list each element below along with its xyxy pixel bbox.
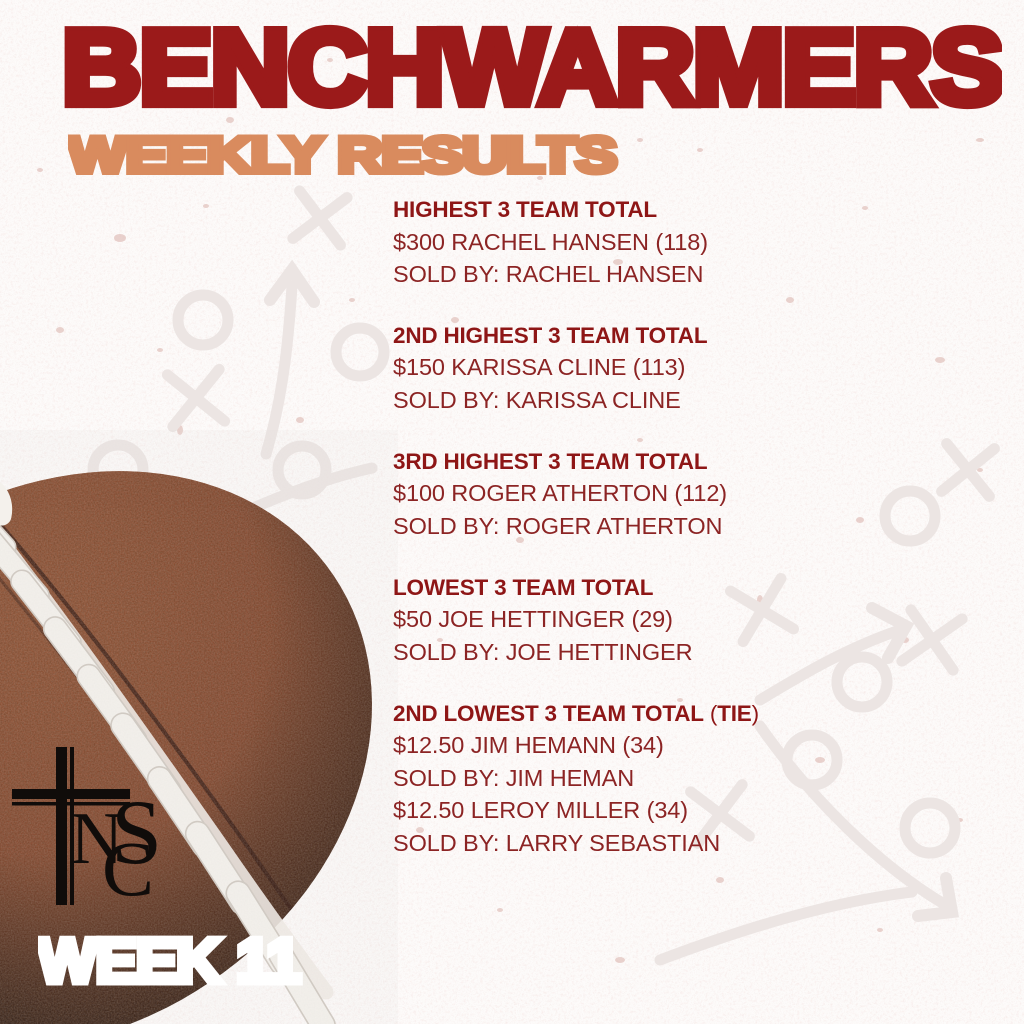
result-heading-text: LOWEST 3 TEAM TOTAL (393, 575, 653, 600)
result-soldby-line: SOLD BY: JIM HEMAN (393, 762, 993, 795)
result-prize-line: $100 ROGER ATHERTON (112) (393, 477, 993, 510)
result-block: 2ND HIGHEST 3 TEAM TOTAL $150 KARISSA CL… (393, 322, 993, 417)
result-soldby-line: SOLD BY: RACHEL HANSEN (393, 258, 993, 291)
result-heading: LOWEST 3 TEAM TOTAL (393, 574, 993, 603)
results-list: HIGHEST 3 TEAM TOTAL $300 RACHEL HANSEN … (393, 196, 993, 860)
result-heading-text: 2ND HIGHEST 3 TEAM TOTAL (393, 323, 707, 348)
result-heading: 2ND LOWEST 3 TEAM TOTAL (TIE) (393, 700, 993, 729)
result-block-tie: 2ND LOWEST 3 TEAM TOTAL (TIE) $12.50 JIM… (393, 700, 993, 860)
result-heading-text: 2ND LOWEST 3 TEAM TOTAL (393, 701, 704, 726)
result-soldby-line: SOLD BY: KARISSA CLINE (393, 384, 993, 417)
result-block: HIGHEST 3 TEAM TOTAL $300 RACHEL HANSEN … (393, 196, 993, 291)
result-heading-text: 3RD HIGHEST 3 TEAM TOTAL (393, 449, 707, 474)
result-block: 3RD HIGHEST 3 TEAM TOTAL $100 ROGER ATHE… (393, 448, 993, 543)
result-heading: 3RD HIGHEST 3 TEAM TOTAL (393, 448, 993, 477)
week-badge: WEEK 11 (38, 928, 303, 990)
ncs-monogram: N S C (70, 781, 162, 910)
poster-subtitle: WEEKLY RESULTS (68, 128, 688, 182)
result-block: LOWEST 3 TEAM TOTAL $50 JOE HETTINGER (2… (393, 574, 993, 669)
week-badge-text: WEEK 11 (38, 928, 300, 990)
result-soldby-line: SOLD BY: ROGER ATHERTON (393, 510, 993, 543)
weekly-results-poster: BENCHWARMERS WEEKLY RESULTS HIGHEST 3 TE… (0, 0, 1024, 1024)
result-prize-line: $150 KARISSA CLINE (113) (393, 351, 993, 384)
result-soldby-line-2: SOLD BY: LARRY SEBASTIAN (393, 827, 993, 860)
result-heading: HIGHEST 3 TEAM TOTAL (393, 196, 993, 225)
brand-title-text: BENCHWARMERS (62, 18, 1002, 118)
monogram-letter-c: C (102, 825, 154, 910)
result-prize-line: $300 RACHEL HANSEN (118) (393, 226, 993, 259)
result-prize-line-2: $12.50 LEROY MILLER (34) (393, 794, 993, 827)
result-prize-line: $12.50 JIM HEMANN (34) (393, 729, 993, 762)
brand-title: BENCHWARMERS (62, 18, 1002, 118)
result-heading-text: HIGHEST 3 TEAM TOTAL (393, 197, 657, 222)
result-prize-line: $50 JOE HETTINGER (29) (393, 603, 993, 636)
ncs-cross-logo: N S C (10, 745, 225, 910)
result-heading: 2ND HIGHEST 3 TEAM TOTAL (393, 322, 993, 351)
poster-subtitle-text: WEEKLY RESULTS (68, 128, 616, 182)
tie-badge: (TIE) (710, 701, 759, 726)
result-soldby-line: SOLD BY: JOE HETTINGER (393, 636, 993, 669)
